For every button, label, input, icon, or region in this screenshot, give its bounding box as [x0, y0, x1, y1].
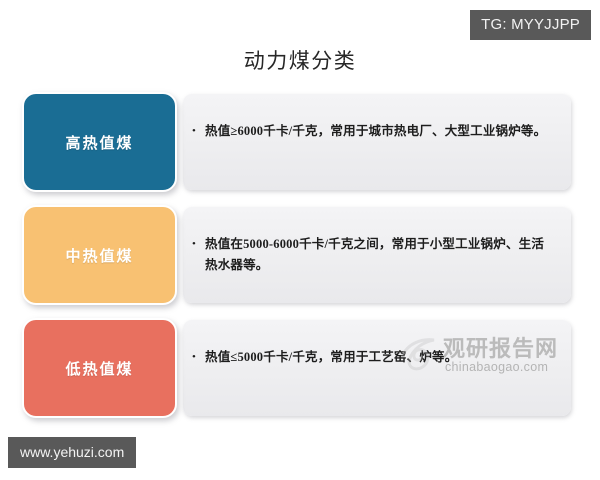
bullet-icon: •: [192, 347, 196, 368]
category-label-text: 中热值煤: [65, 245, 133, 266]
coal-classification-diagram: • 热值≥6000千卡/千克，常用于城市热电厂、大型工业锅炉等。 高热值煤 • …: [0, 92, 600, 422]
description-panel: • 热值≥6000千卡/千克，常用于城市热电厂、大型工业锅炉等。: [183, 94, 571, 190]
description-panel: • 热值在5000-6000千卡/千克之间，常用于小型工业锅炉、生活热水器等。: [183, 207, 571, 303]
bullet-icon: •: [192, 121, 196, 142]
diagram-row: • 热值在5000-6000千卡/千克之间，常用于小型工业锅炉、生活热水器等。 …: [0, 205, 600, 305]
category-label-box-medium: 中热值煤: [22, 205, 177, 305]
category-label-text: 高热值煤: [65, 132, 133, 153]
bullet-icon: •: [192, 234, 196, 255]
diagram-row: • 热值≥6000千卡/千克，常用于城市热电厂、大型工业锅炉等。 高热值煤: [0, 92, 600, 192]
footer-source-badge: www.yehuzi.com: [8, 437, 136, 468]
category-label-box-high: 高热值煤: [22, 92, 177, 192]
description-text: 热值≤5000千卡/千克，常用于工艺窑、炉等。: [205, 347, 553, 368]
description-panel: • 热值≤5000千卡/千克，常用于工艺窑、炉等。: [183, 320, 571, 416]
description-text: 热值在5000-6000千卡/千克之间，常用于小型工业锅炉、生活热水器等。: [205, 234, 553, 276]
description-text: 热值≥6000千卡/千克，常用于城市热电厂、大型工业锅炉等。: [205, 121, 553, 142]
page-title: 动力煤分类: [0, 45, 600, 75]
tg-watermark-badge: TG: MYYJJPP: [470, 10, 591, 40]
diagram-row: • 热值≤5000千卡/千克，常用于工艺窑、炉等。 低热值煤: [0, 318, 600, 418]
category-label-text: 低热值煤: [65, 358, 133, 379]
category-label-box-low: 低热值煤: [22, 318, 177, 418]
